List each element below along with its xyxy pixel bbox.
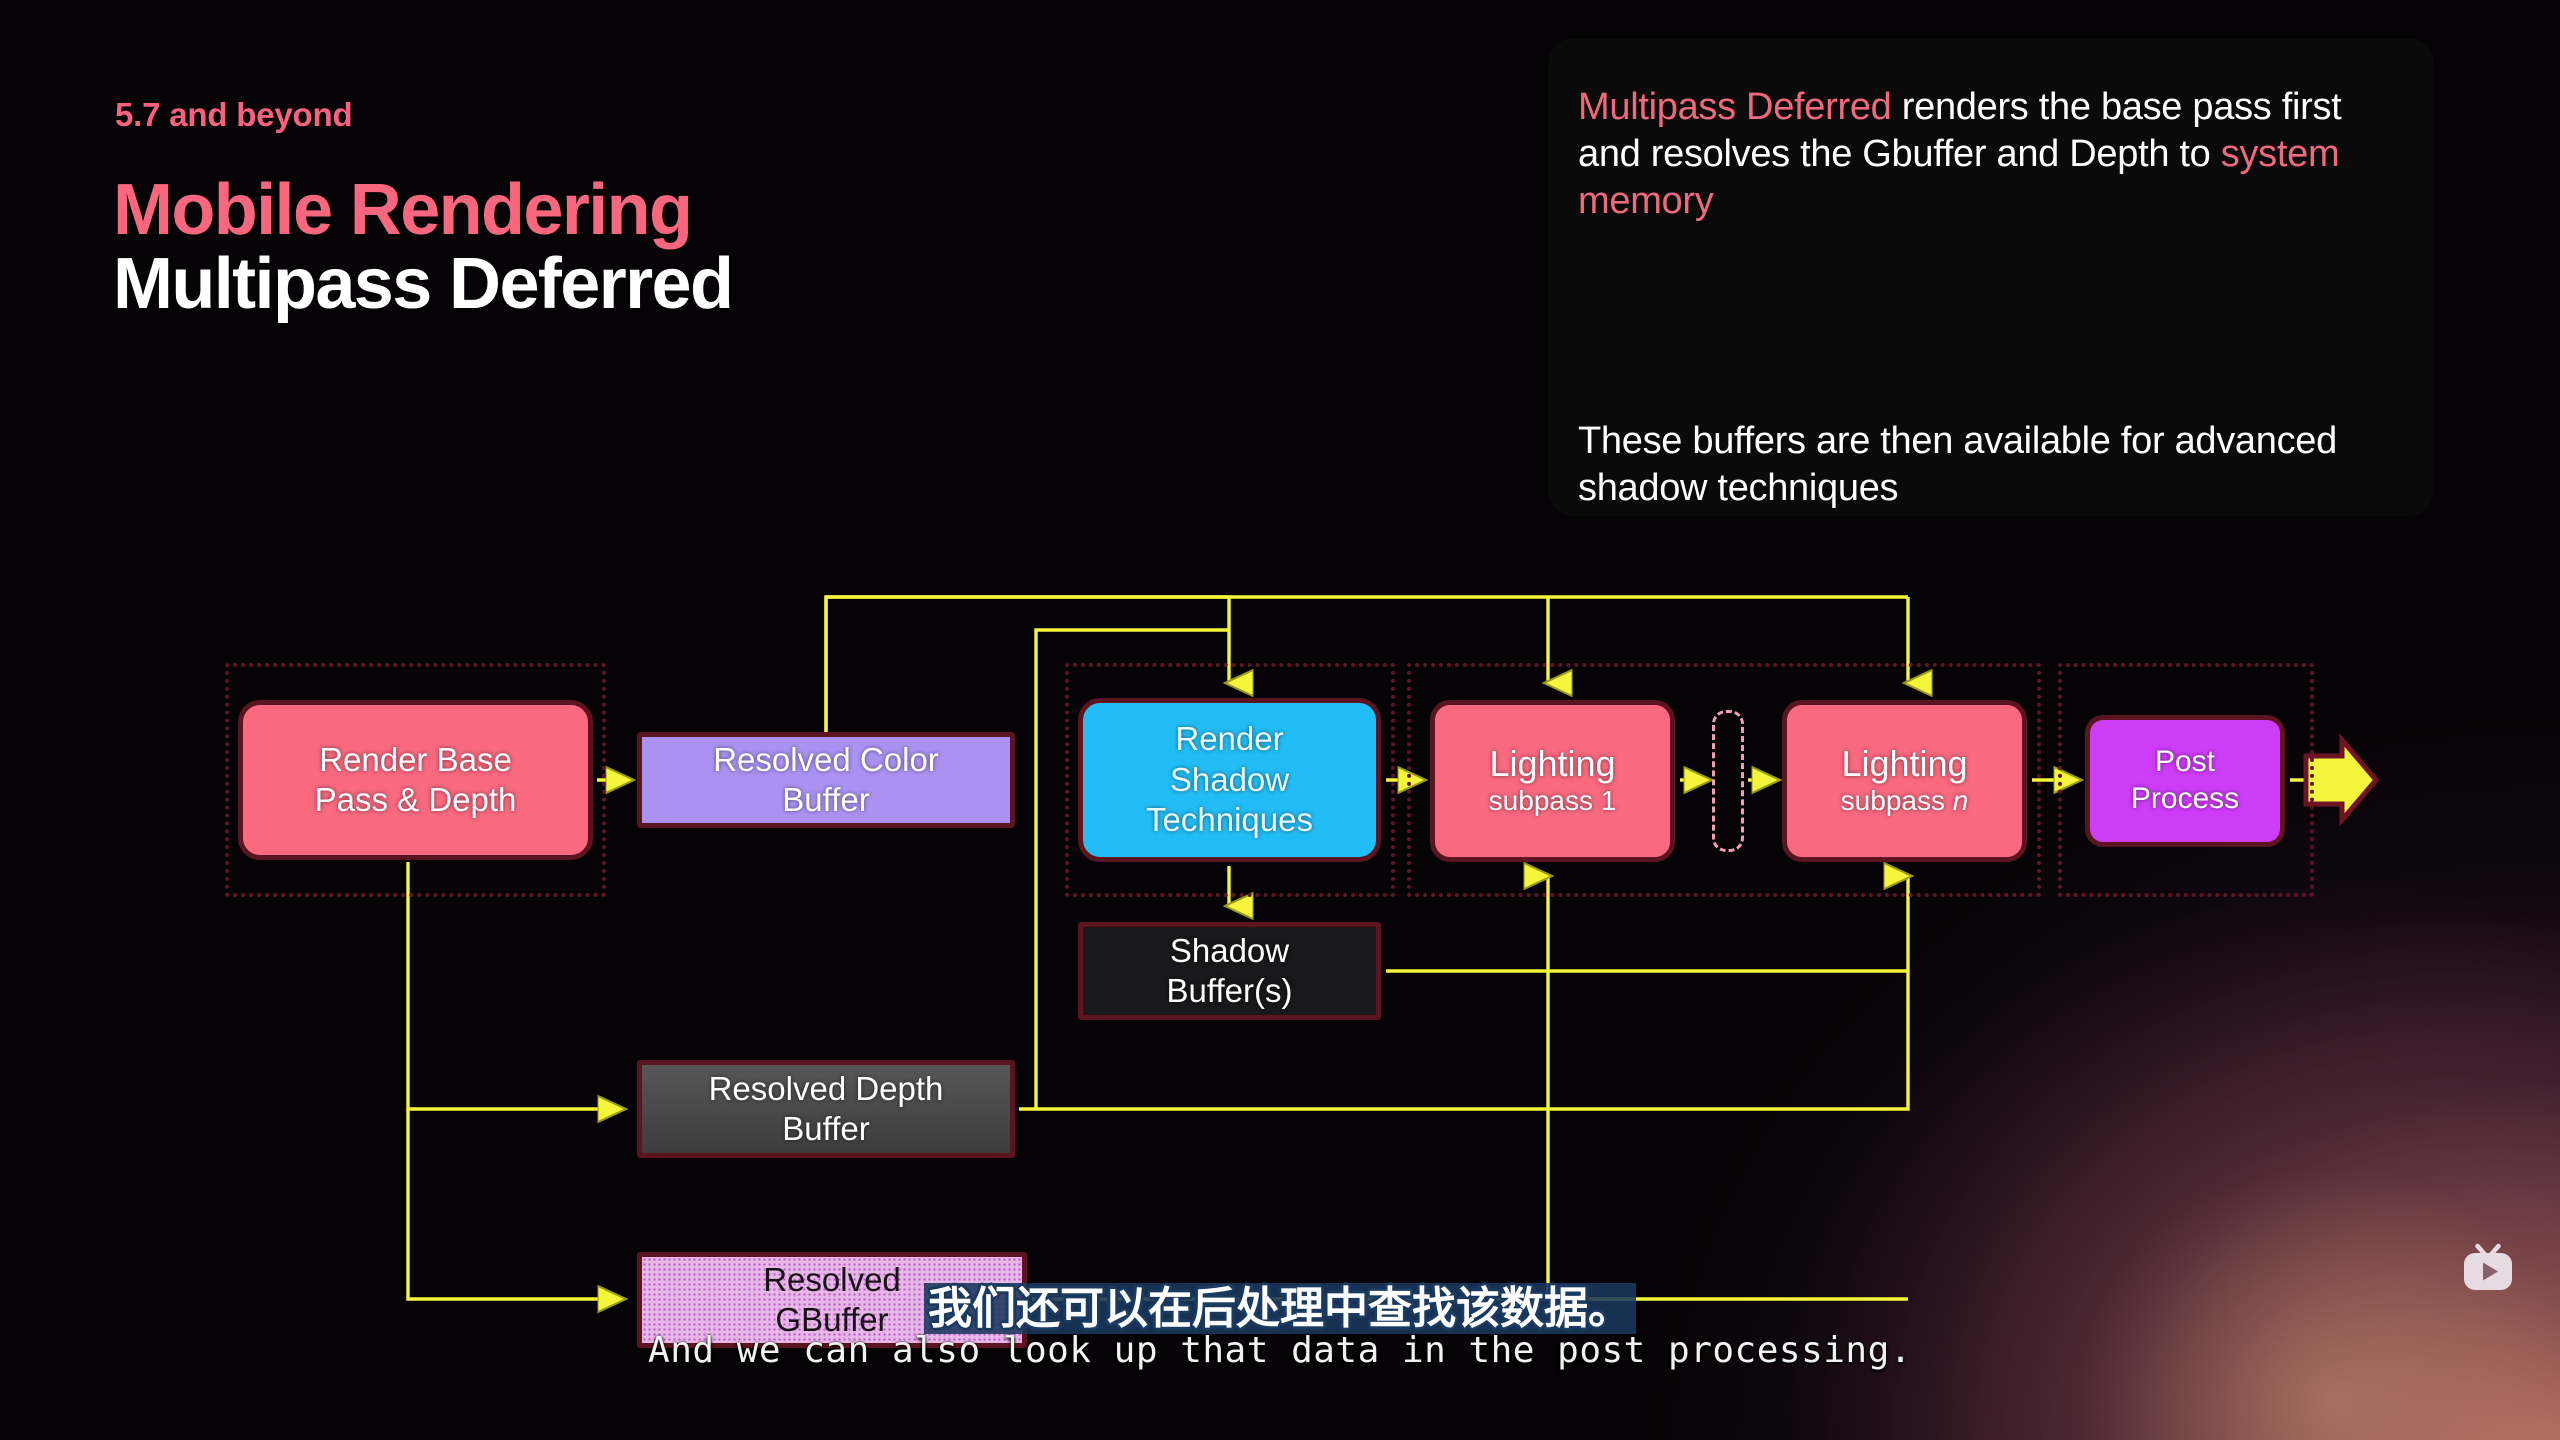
node-resolved-color-buffer-label: Resolved Color Buffer [713,740,939,821]
pipeline-diagram: Render Base Pass & Depth Resolved Color … [0,0,2560,1440]
node-lighting-subpass-n-label: Lighting subpass n [1841,744,1969,818]
node-lighting-subpass-1-sub: subpass 1 [1489,784,1617,818]
subtitle-chinese-text: 我们还可以在后处理中查找该数据。 [924,1283,1636,1334]
node-lighting-subpass-ellipsis [1712,710,1744,852]
node-lighting-subpass-1[interactable]: Lighting subpass 1 [1430,700,1675,862]
node-render-shadow-techniques-label: Render Shadow Techniques [1146,719,1313,842]
node-lighting-subpass-n[interactable]: Lighting subpass n [1782,700,2027,862]
node-render-base-pass-label: Render Base Pass & Depth [315,740,517,821]
node-shadow-buffers-label: Shadow Buffer(s) [1167,931,1293,1012]
node-render-shadow-techniques[interactable]: Render Shadow Techniques [1078,698,1381,862]
node-lighting-subpass-n-sub-pre: subpass [1841,785,1953,816]
node-post-process[interactable]: Post Process [2085,715,2285,847]
tv-play-icon[interactable] [2460,1240,2516,1296]
node-lighting-subpass-n-sub-var: n [1953,785,1969,816]
node-shadow-buffers[interactable]: Shadow Buffer(s) [1078,922,1381,1020]
node-resolved-depth-buffer[interactable]: Resolved Depth Buffer [637,1060,1015,1158]
node-post-process-label: Post Process [2131,744,2239,817]
pipeline-output-arrow [2306,740,2376,820]
node-lighting-subpass-n-sub: subpass n [1841,784,1969,818]
node-lighting-subpass-1-title: Lighting [1489,743,1615,784]
subtitle-chinese: 我们还可以在后处理中查找该数据。 [0,1272,2560,1336]
node-render-base-pass[interactable]: Render Base Pass & Depth [238,700,593,860]
node-lighting-subpass-n-title: Lighting [1841,743,1967,784]
node-resolved-color-buffer[interactable]: Resolved Color Buffer [637,732,1015,828]
node-resolved-depth-buffer-label: Resolved Depth Buffer [709,1069,944,1150]
subtitle-english: And we can also look up that data in the… [0,1330,2560,1371]
node-lighting-subpass-1-label: Lighting subpass 1 [1489,744,1617,818]
